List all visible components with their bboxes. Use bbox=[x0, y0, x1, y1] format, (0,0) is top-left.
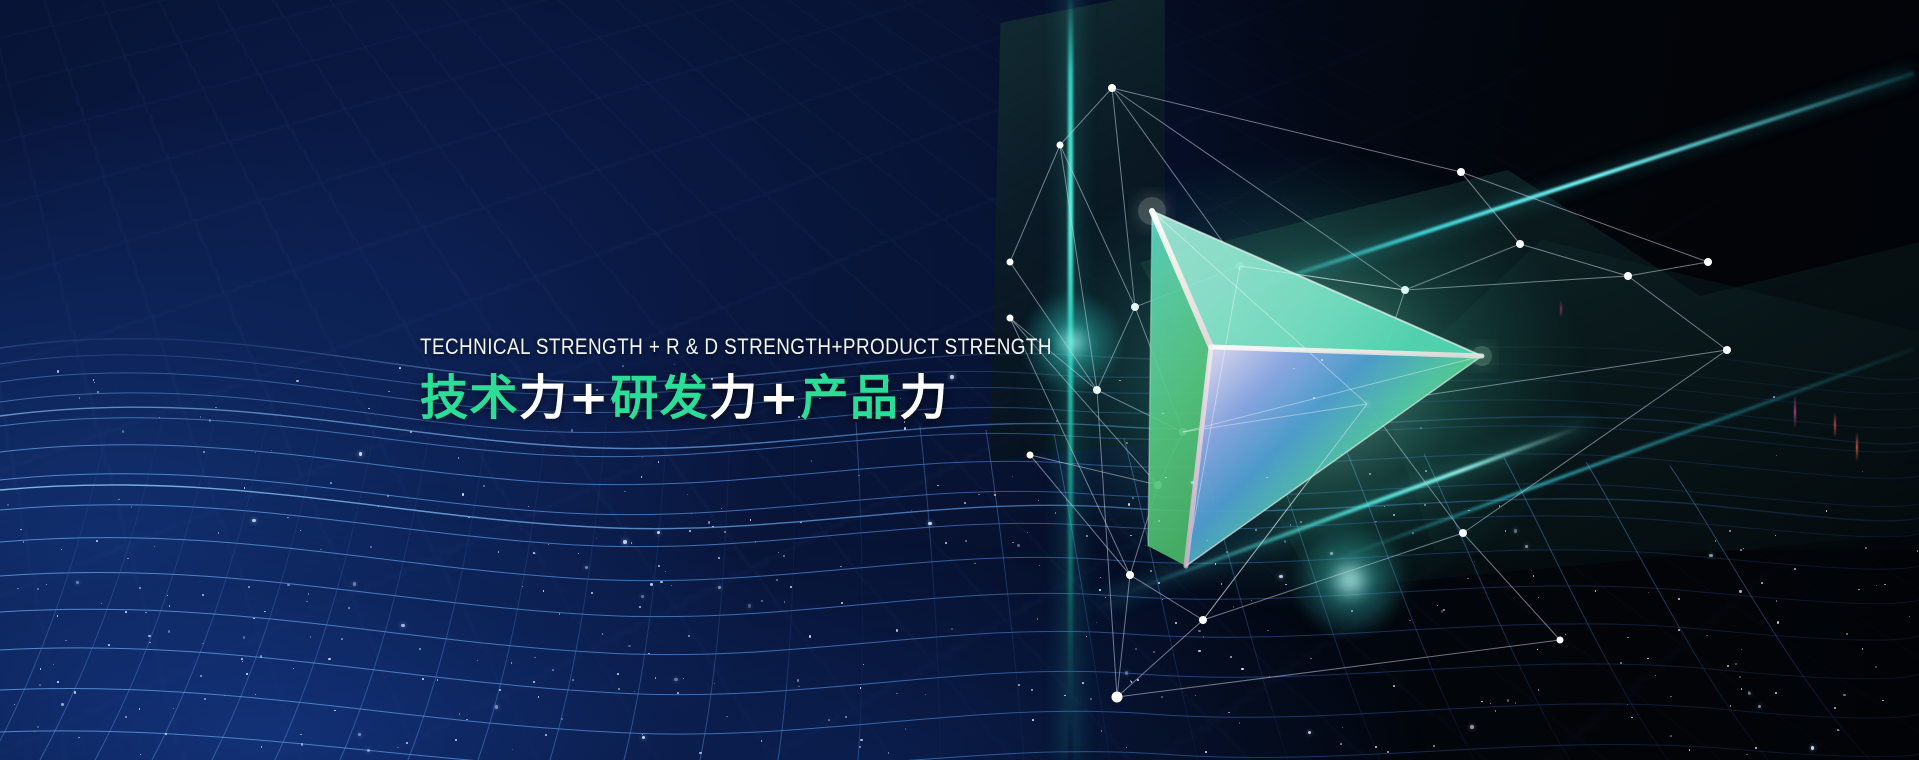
hero-text-block: TECHNICAL STRENGTH + R & D STRENGTH+PROD… bbox=[420, 336, 1172, 424]
headline-seg-rnd: 研发 bbox=[610, 370, 709, 426]
headline-seg-product: 产品 bbox=[801, 370, 900, 426]
headline-seg-li-1: 力 bbox=[519, 370, 569, 426]
hero-subtitle: TECHNICAL STRENGTH + R & D STRENGTH+PROD… bbox=[420, 336, 1052, 359]
hero-headline: 技术力+研发力+产品力 bbox=[420, 373, 1172, 425]
headline-seg-tech: 技术 bbox=[420, 370, 519, 426]
headline-seg-plus-1: + bbox=[569, 370, 611, 426]
headline-seg-li-2: 力 bbox=[709, 370, 759, 426]
headline-seg-li-3: 力 bbox=[900, 370, 950, 426]
headline-seg-plus-2: + bbox=[759, 370, 801, 426]
hero-banner: TECHNICAL STRENGTH + R & D STRENGTH+PROD… bbox=[0, 0, 1919, 760]
